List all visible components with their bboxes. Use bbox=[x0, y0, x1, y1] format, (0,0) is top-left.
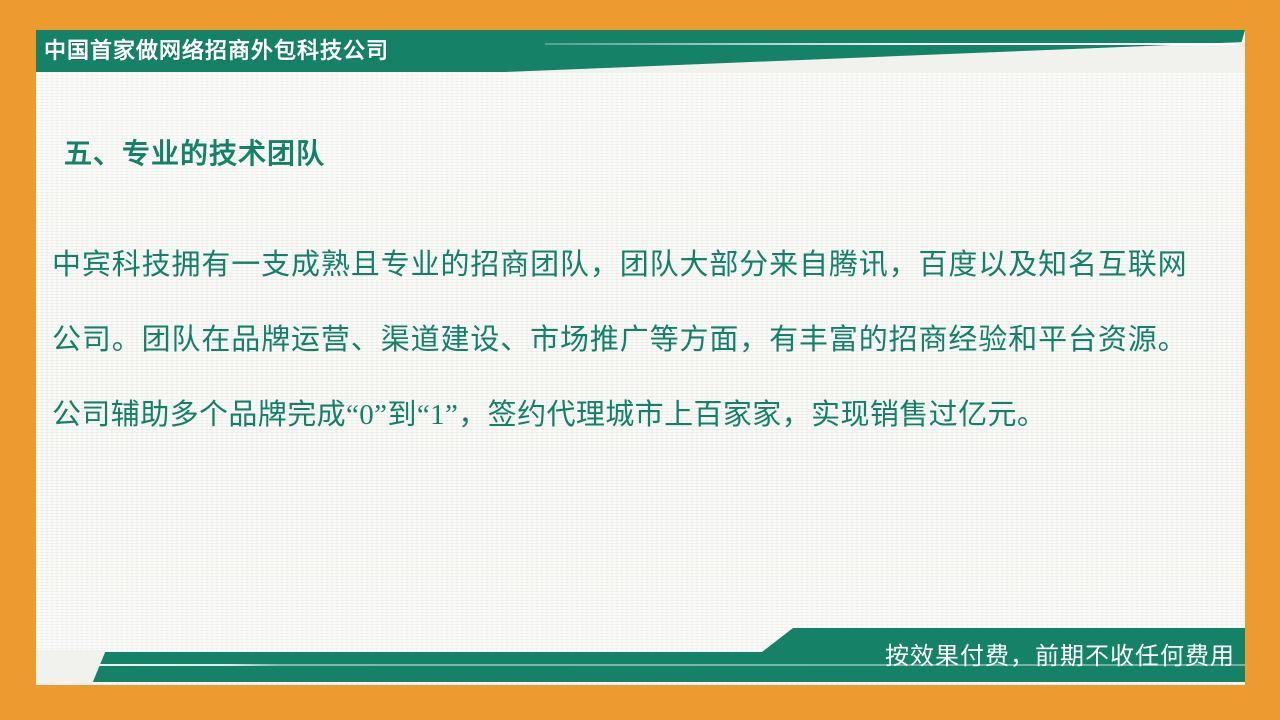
footer-tagline: 按效果付费，前期不收任何费用 bbox=[885, 638, 1235, 676]
header-banner-title: 中国首家做网络招商外包科技公司 bbox=[44, 34, 389, 68]
section-paragraph: 中宾科技拥有一支成熟且专业的招商团队，团队大部分来自腾讯，百度以及知名互联网公司… bbox=[52, 228, 1187, 453]
header-accent-line bbox=[545, 43, 1235, 45]
slide-canvas: 中国首家做网络招商外包科技公司 五、专业的技术团队 中宾科技拥有一支成熟且专业的… bbox=[0, 0, 1280, 720]
section-heading: 五、专业的技术团队 bbox=[64, 132, 325, 172]
